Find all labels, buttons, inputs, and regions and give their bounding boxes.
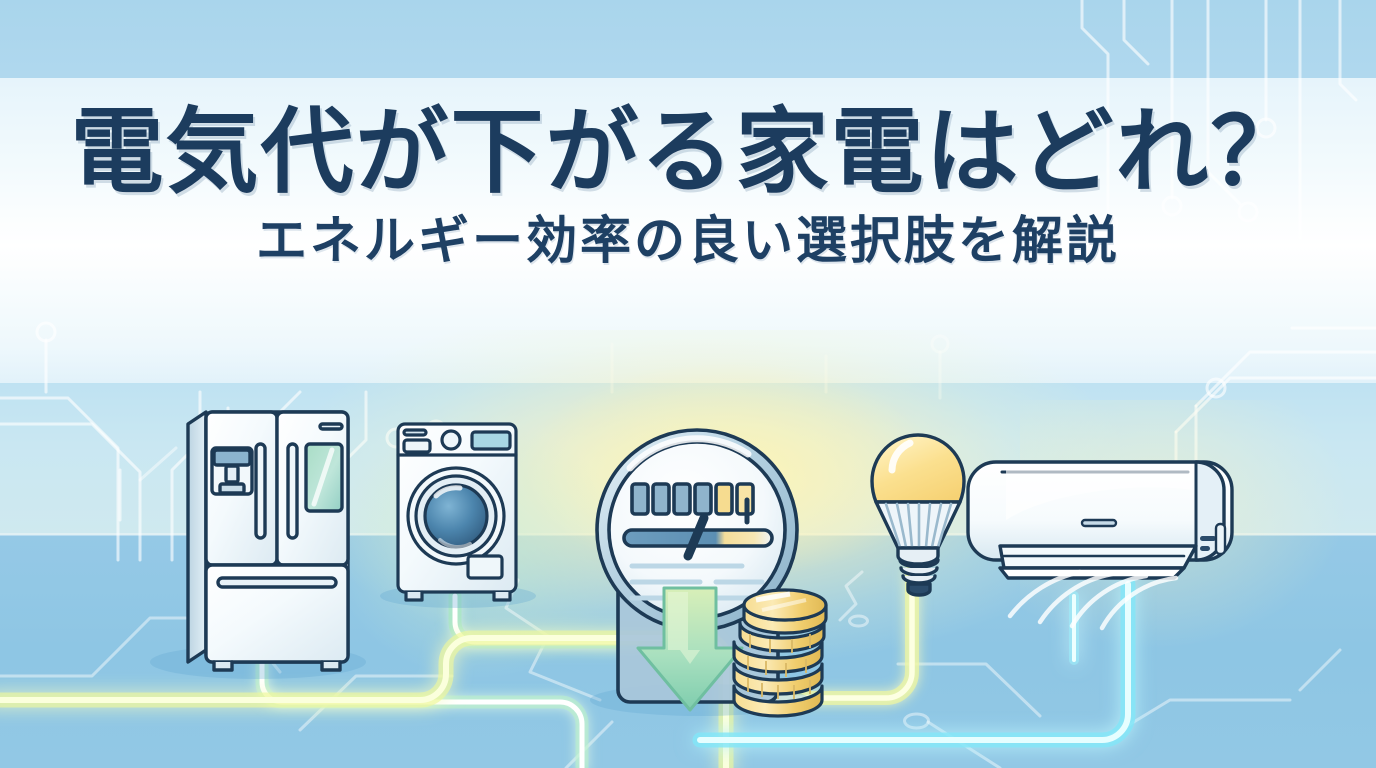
air-conditioner-illustration xyxy=(968,462,1232,628)
refrigerator-illustration xyxy=(188,412,348,670)
page-subtitle: エネルギー効率の良い選択肢を解説 xyxy=(0,214,1376,270)
washing-machine-illustration xyxy=(398,424,516,600)
hero-banner: 電気代が下がる家電はどれ？ エネルギー効率の良い選択肢を解説 xyxy=(0,0,1376,768)
led-bulb-illustration xyxy=(872,435,964,595)
page-title: 電気代が下がる家電はどれ？ xyxy=(0,104,1376,204)
headline-block: 電気代が下がる家電はどれ？ エネルギー効率の良い選択肢を解説 xyxy=(0,104,1376,271)
